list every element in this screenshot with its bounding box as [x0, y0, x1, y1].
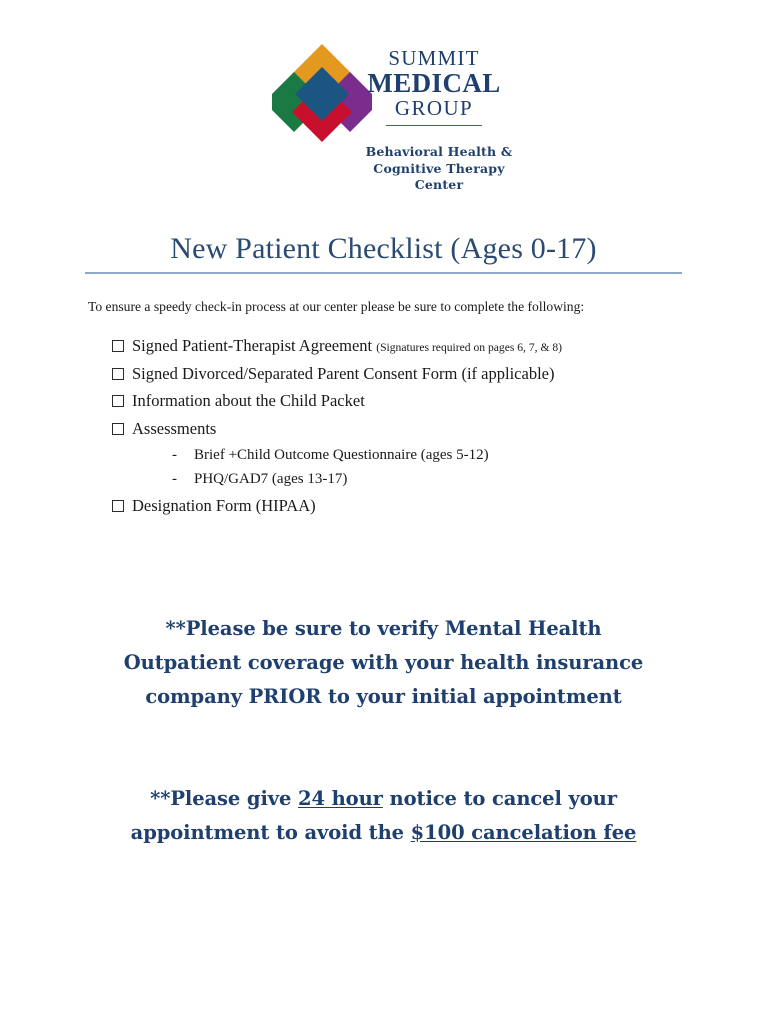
wordmark-line-summit: SUMMIT: [364, 48, 504, 69]
checkbox-icon[interactable]: [112, 395, 124, 407]
insurance-notice-line-3: company PRIOR to your initial appointmen…: [85, 680, 682, 714]
cancellation-notice-hours: 24 hour: [298, 787, 383, 810]
assessment-sublist-item: - Brief +Child Outcome Questionnaire (ag…: [172, 447, 712, 464]
checklist-item-note: (Signatures required on pages 6, 7, & 8): [376, 341, 562, 354]
checklist-item[interactable]: Assessments: [112, 419, 712, 438]
assessment-sublist: - Brief +Child Outcome Questionnaire (ag…: [112, 447, 712, 489]
checklist-item[interactable]: Signed Patient-Therapist Agreement (Sign…: [112, 336, 712, 355]
dash-bullet-icon: -: [172, 471, 194, 488]
cancellation-notice-segment-1: **Please give: [150, 787, 298, 810]
organization-logo: SUMMIT MEDICAL GROUP Behavioral Health &…: [0, 42, 770, 197]
insurance-notice-line-1: **Please be sure to verify Mental Health: [85, 612, 682, 646]
subbrand-line-1: Behavioral Health &: [324, 144, 554, 161]
checkbox-icon[interactable]: [112, 368, 124, 380]
cancellation-notice-fee: $100 cancelation fee: [411, 821, 637, 844]
checklist-item-label: Signed Patient-Therapist Agreement: [132, 336, 372, 355]
checklist-item[interactable]: Information about the Child Packet: [112, 391, 712, 410]
checklist-item[interactable]: Designation Form (HIPAA): [112, 496, 712, 515]
title-divider: [85, 272, 682, 274]
intro-paragraph: To ensure a speedy check-in process at o…: [88, 298, 698, 316]
checklist-item-label: Information about the Child Packet: [132, 391, 365, 410]
checklist-item[interactable]: Signed Divorced/Separated Parent Consent…: [112, 364, 712, 383]
subbrand-line-2: Cognitive Therapy: [324, 161, 554, 178]
assessment-sublist-label: PHQ/GAD7 (ages 13-17): [194, 471, 347, 488]
assessment-sublist-label: Brief +Child Outcome Questionnaire (ages…: [194, 447, 489, 464]
subbrand-name: Behavioral Health & Cognitive Therapy Ce…: [324, 144, 554, 194]
checklist-item-label: Signed Divorced/Separated Parent Consent…: [132, 364, 554, 383]
insurance-verification-notice: **Please be sure to verify Mental Health…: [85, 612, 682, 714]
checklist-item-label: Assessments: [132, 419, 216, 438]
summit-diamond-cluster: [272, 42, 372, 142]
document-page: SUMMIT MEDICAL GROUP Behavioral Health &…: [0, 0, 770, 1024]
summit-wordmark: SUMMIT MEDICAL GROUP: [364, 48, 504, 126]
checkbox-icon[interactable]: [112, 423, 124, 435]
subbrand-line-3: Center: [324, 177, 554, 194]
page-title: New Patient Checklist (Ages 0-17): [85, 232, 682, 265]
wordmark-line-medical: MEDICAL: [364, 70, 504, 97]
cancellation-policy-notice: **Please give 24 hour notice to cancel y…: [85, 782, 682, 850]
checkbox-icon[interactable]: [112, 500, 124, 512]
checklist: Signed Patient-Therapist Agreement (Sign…: [112, 336, 712, 524]
wordmark-line-group: GROUP: [364, 98, 504, 119]
assessment-sublist-item: - PHQ/GAD7 (ages 13-17): [172, 471, 712, 488]
checkbox-icon[interactable]: [112, 340, 124, 352]
dash-bullet-icon: -: [172, 447, 194, 464]
checklist-item-label: Designation Form (HIPAA): [132, 496, 316, 515]
insurance-notice-line-2: Outpatient coverage with your health ins…: [85, 646, 682, 680]
wordmark-divider: [386, 125, 482, 126]
